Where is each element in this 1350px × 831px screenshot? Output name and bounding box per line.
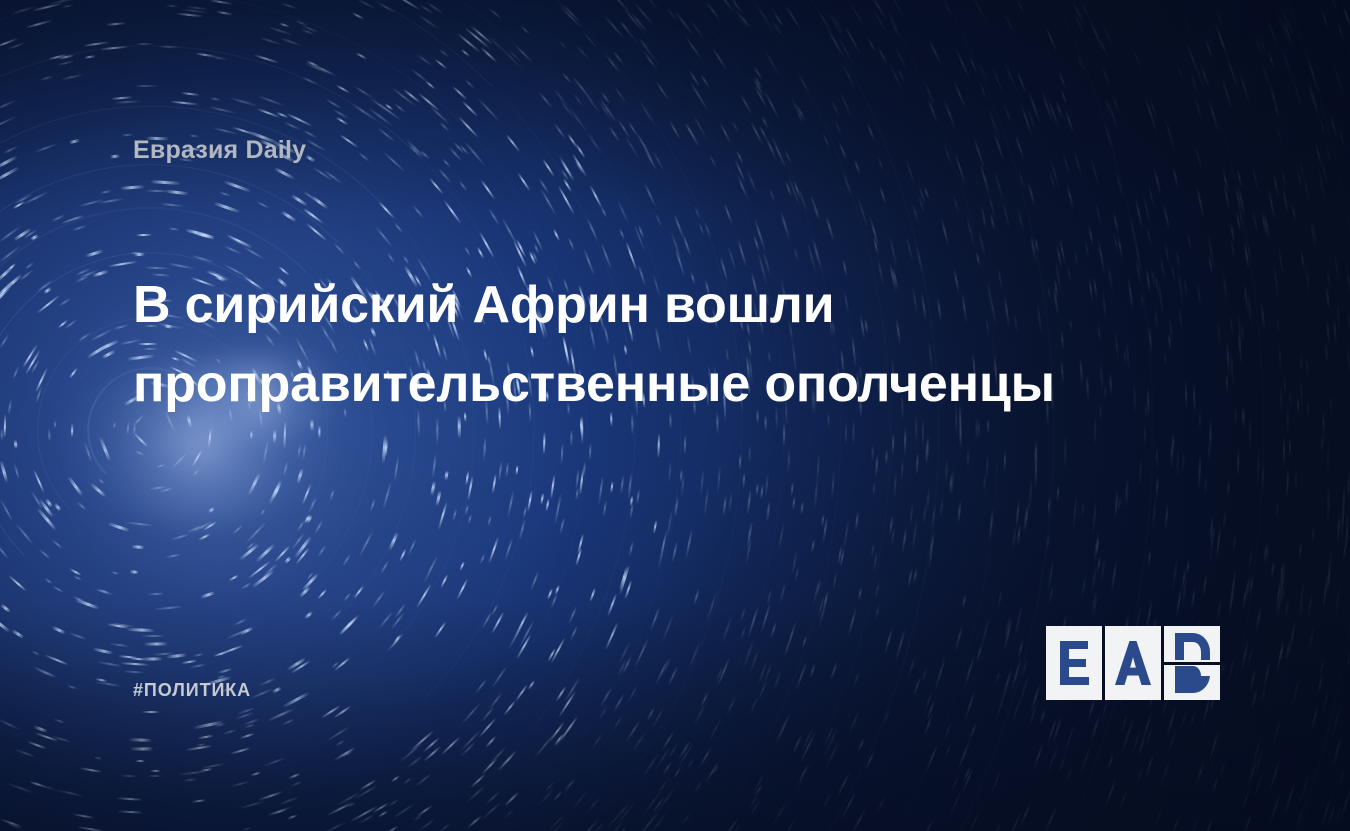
eadaily-logo[interactable] — [1046, 626, 1220, 700]
share-card: Евразия Daily В сирийский Африн вошли пр… — [0, 0, 1350, 831]
headline-line-2: проправительственные ополченцы — [133, 345, 1113, 424]
card-content: Евразия Daily В сирийский Африн вошли пр… — [0, 0, 1350, 831]
logo-tile-d-split — [1164, 626, 1220, 700]
headline-line-1: В сирийский Африн вошли — [133, 266, 1113, 345]
letter-a-icon — [1114, 640, 1152, 686]
logo-tile-d-lower — [1164, 665, 1220, 701]
brand-title: Евразия Daily — [133, 136, 306, 165]
letter-d-lower-icon — [1173, 666, 1211, 693]
category-hashtag[interactable]: #ПОЛИТИКА — [133, 680, 251, 701]
logo-tile-a — [1105, 626, 1161, 700]
logo-tile-e — [1046, 626, 1102, 700]
letter-d-upper-icon — [1173, 633, 1211, 660]
logo-tile-d-upper — [1164, 626, 1220, 662]
page-title: В сирийский Африн вошли проправительстве… — [133, 266, 1113, 424]
letter-e-icon — [1057, 640, 1091, 686]
